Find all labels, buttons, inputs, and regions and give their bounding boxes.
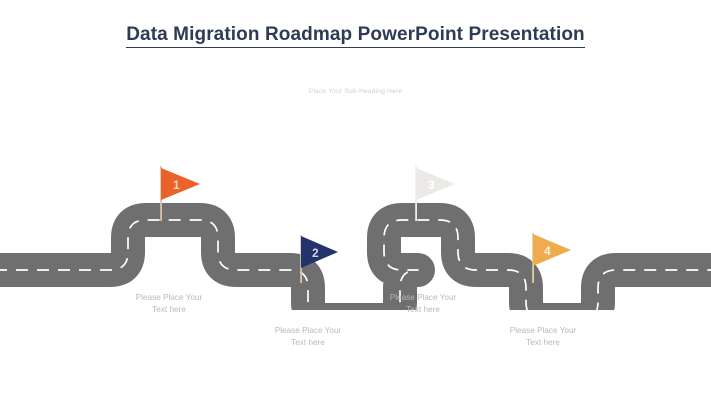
milestone-flag-4[interactable]: 4 [522, 230, 582, 292]
milestone-caption-3: Please Place Your Text here [348, 292, 498, 315]
page-title-text: Data Migration Roadmap PowerPoint Presen… [126, 24, 585, 48]
caption-line-1: Please Place Your [468, 325, 618, 337]
flag-banner-icon [416, 168, 455, 200]
milestone-caption-4: Please Place Your Text here [468, 325, 618, 348]
milestone-number-3: 3 [428, 178, 435, 192]
caption-line-1: Please Place Your [348, 292, 498, 304]
milestone-flag-1[interactable]: 1 [150, 163, 210, 225]
page-subtitle: Place Your Sub-Heading Here [0, 88, 711, 95]
milestone-flag-2[interactable]: 2 [290, 232, 350, 294]
milestone-caption-1: Please Place Your Text here [94, 292, 244, 315]
roadmap-road [0, 150, 711, 310]
milestone-number-1: 1 [173, 178, 180, 192]
caption-line-2: Text here [94, 304, 244, 316]
flag-banner-icon [301, 236, 338, 268]
caption-line-1: Please Place Your [94, 292, 244, 304]
milestone-caption-2: Please Place Your Text here [233, 325, 383, 348]
page-title: Data Migration Roadmap PowerPoint Presen… [0, 24, 711, 46]
flag-banner-icon [533, 234, 571, 266]
flag-banner-icon [161, 168, 200, 200]
caption-line-2: Text here [348, 304, 498, 316]
caption-line-1: Please Place Your [233, 325, 383, 337]
caption-line-2: Text here [468, 337, 618, 349]
milestone-number-4: 4 [544, 244, 551, 258]
milestone-flag-3[interactable]: 3 [405, 163, 465, 225]
caption-line-2: Text here [233, 337, 383, 349]
slide-canvas: Data Migration Roadmap PowerPoint Presen… [0, 0, 711, 400]
milestone-number-2: 2 [312, 246, 319, 260]
